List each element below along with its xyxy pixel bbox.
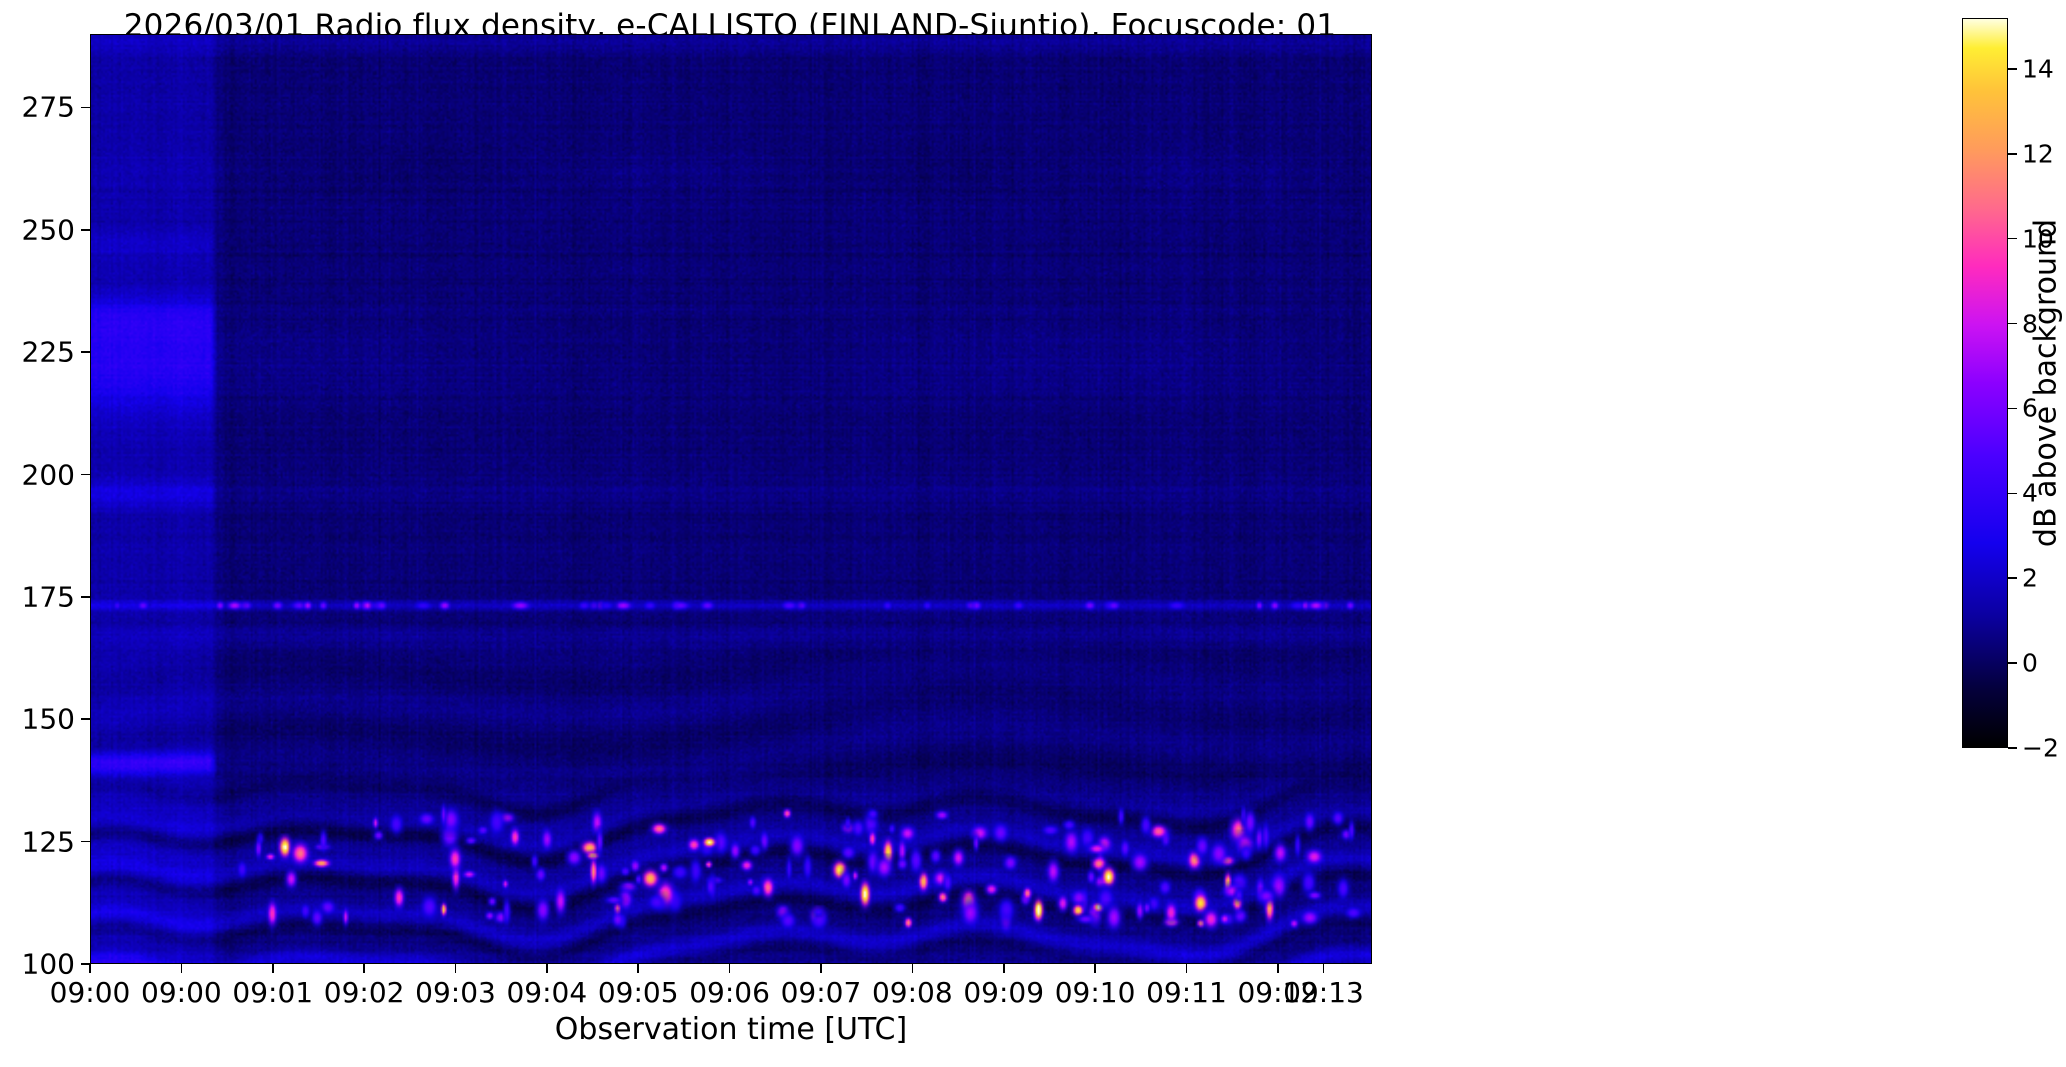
x-axis-label: Observation time [UTC] [555,1012,907,1047]
x-axis-tick-mark [181,964,183,973]
colorbar-tick-mark [2008,747,2017,749]
colorbar-tick-label: 14 [2022,54,2054,83]
y-axis-tick-label: 250 [0,213,75,246]
x-axis-tick-label: 09:08 [872,976,953,1009]
x-axis-tick-mark [89,964,91,973]
x-axis-tick-label: 09:13 [1283,976,1364,1009]
x-axis-tick-mark [820,964,822,973]
x-axis-tick-label: 09:00 [50,976,131,1009]
y-axis-tick-mark [81,718,90,720]
colorbar-tick-label: −2 [2022,734,2059,763]
y-axis-tick-mark [81,841,90,843]
x-axis-tick-mark [729,964,731,973]
colorbar-tick-mark [2008,577,2017,579]
x-axis-tick-mark [1323,964,1325,973]
colorbar-tick-mark [2008,408,2017,410]
y-axis-tick-mark [81,229,90,231]
x-axis-tick-label: 09:10 [1055,976,1136,1009]
x-axis-tick-mark [546,964,548,973]
spectrogram-image [91,35,1371,963]
y-axis-tick-mark [81,474,90,476]
colorbar-tick-mark [2008,493,2017,495]
x-axis-tick-mark [637,964,639,973]
x-axis-tick-label: 09:00 [141,976,222,1009]
colorbar-label: dB above background [2029,219,2064,547]
x-axis-tick-label: 09:04 [506,976,587,1009]
x-axis-tick-label: 09:01 [232,976,313,1009]
x-axis-tick-label: 09:11 [1146,976,1227,1009]
x-axis-tick-mark [363,964,365,973]
x-axis-tick-label: 09:09 [963,976,1044,1009]
y-axis-tick-label: 175 [0,580,75,613]
colorbar-tick-mark [2008,662,2017,664]
colorbar-ticks: 14121086420−2 [1962,18,2008,748]
x-axis-tick-mark [1277,964,1279,973]
colorbar-tick-mark [2008,153,2017,155]
x-axis-tick-label: 09:02 [324,976,405,1009]
x-axis-tick-label: 09:05 [598,976,679,1009]
colorbar-tick-mark [2008,238,2017,240]
colorbar-tick-mark [2008,323,2017,325]
y-axis-tick-label: 150 [0,703,75,736]
x-axis-tick-mark [1003,964,1005,973]
y-axis-tick-label: 200 [0,458,75,491]
spectrogram-plot-area [90,34,1372,964]
y-axis-tick-mark [81,596,90,598]
x-axis-tick-mark [912,964,914,973]
x-axis-tick-label: 09:03 [415,976,496,1009]
colorbar-tick-mark [2008,68,2017,70]
colorbar-tick-label: 0 [2022,649,2038,678]
y-axis-tick-label: 275 [0,91,75,124]
colorbar-tick-label: 12 [2022,139,2054,168]
spectrogram-canvas [91,35,1371,963]
x-axis-tick-mark [272,964,274,973]
x-axis-tick-mark [1186,964,1188,973]
spectrogram-figure: 2026/03/01 Radio flux density, e-CALLIST… [0,0,2066,1067]
x-axis-tick-label: 09:07 [781,976,862,1009]
x-axis-tick-mark [1094,964,1096,973]
y-axis-tick-label: 225 [0,336,75,369]
x-axis-tick-label: 09:06 [689,976,770,1009]
colorbar-tick-label: 2 [2022,564,2038,593]
x-axis-tick-mark [455,964,457,973]
y-axis-tick-mark [81,351,90,353]
y-axis-tick-label: 125 [0,825,75,858]
y-axis-tick-mark [81,107,90,109]
